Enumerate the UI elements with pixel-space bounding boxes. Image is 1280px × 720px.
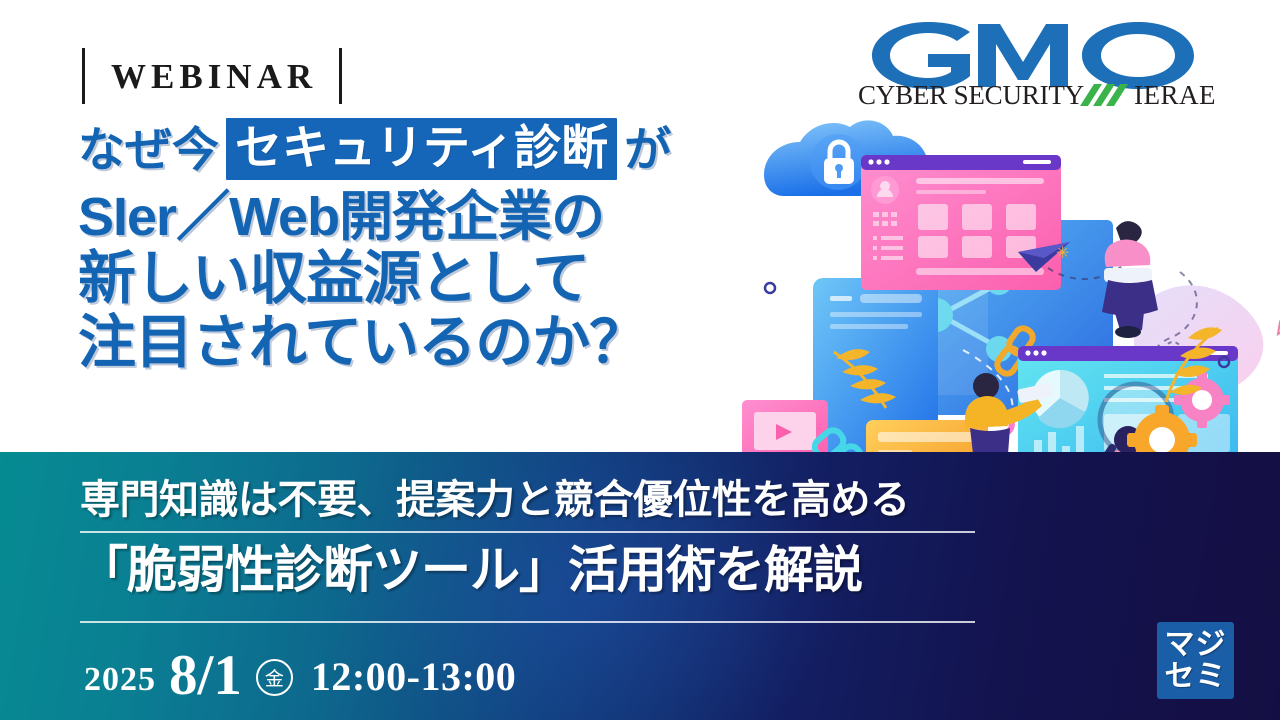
webinar-rule-right bbox=[339, 48, 342, 104]
webinar-banner: WEBINAR CYBER SECURITY bbox=[0, 0, 1280, 720]
banner-top-section: WEBINAR CYBER SECURITY bbox=[0, 0, 1280, 452]
headline-line-2: SIer／Web開発企業の bbox=[78, 190, 798, 244]
headline-line-1: なぜ今 セキュリティ診断 が bbox=[78, 118, 798, 180]
subtitle-divider-bottom bbox=[80, 621, 975, 623]
majisemi-logo-line-2: セミ bbox=[1165, 661, 1227, 693]
headline-line-4: 注目されているのか？ bbox=[78, 314, 798, 372]
svg-text:✳: ✳ bbox=[1056, 243, 1069, 262]
schedule-day-of-week: 金 bbox=[256, 659, 293, 696]
webinar-label: WEBINAR bbox=[85, 59, 339, 94]
headline-line-3: 新しい収益源として bbox=[78, 250, 798, 308]
gmo-logo-svg: CYBER SECURITY IERAE bbox=[858, 18, 1238, 110]
headline-line1-post: が bbox=[624, 126, 671, 173]
subtitle-divider-top bbox=[80, 531, 975, 533]
headline: なぜ今 セキュリティ診断 が SIer／Web開発企業の 新しい収益源として 注… bbox=[78, 118, 798, 372]
subtitle-line-1: 専門知識は不要、提案力と競合優位性を高める bbox=[80, 480, 910, 520]
schedule-year: 2025 bbox=[84, 661, 156, 699]
security-assessment-illustration: ✳ bbox=[718, 100, 1280, 452]
schedule-month-day: 8/1 bbox=[169, 643, 242, 708]
majisemi-logo[interactable]: マジ セミ bbox=[1157, 622, 1234, 699]
headline-highlight: セキュリティ診断 bbox=[226, 118, 617, 180]
schedule: 2025 8/1 金 12:00-13:00 bbox=[84, 639, 516, 704]
pink-browser-window bbox=[861, 155, 1061, 290]
subtitle-line-2: 「脆弱性診断ツール」活用術を解説 bbox=[78, 545, 862, 595]
headline-line1-pre: なぜ今 bbox=[78, 126, 219, 173]
webinar-tag: WEBINAR bbox=[82, 47, 342, 105]
gmo-logo: CYBER SECURITY IERAE bbox=[858, 18, 1238, 110]
schedule-time: 12:00-13:00 bbox=[311, 653, 516, 700]
majisemi-logo-line-1: マジ bbox=[1165, 629, 1227, 661]
